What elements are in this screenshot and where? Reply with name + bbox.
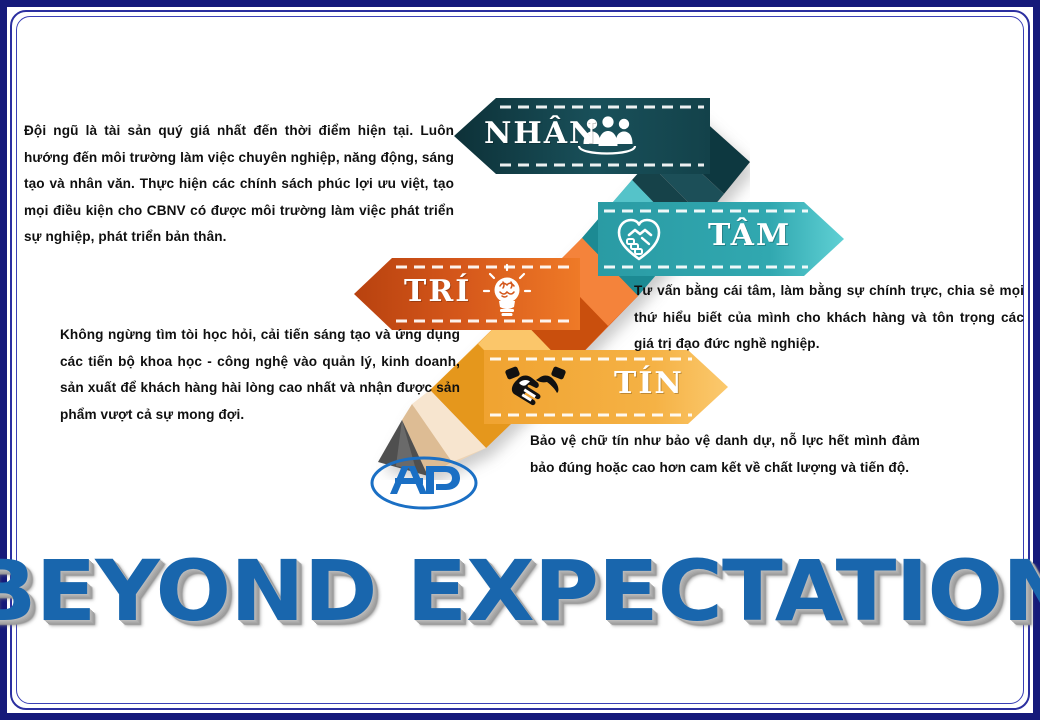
hp-company-logo bbox=[368, 452, 480, 514]
value-label-tin: TÍN bbox=[614, 366, 684, 401]
value-text-tam: Tư vấn bằng cái tâm, làm bằng sự chính t… bbox=[634, 278, 1024, 358]
page-title: BEYOND EXPECTATION bbox=[0, 536, 1040, 646]
value-banner-tam[interactable]: TÂM bbox=[596, 200, 846, 278]
value-banner-nhan[interactable]: NHÂN bbox=[452, 96, 712, 176]
value-label-tam: TÂM bbox=[708, 218, 791, 253]
value-text-tri: Không ngừng tìm tòi học hỏi, cải tiến sá… bbox=[60, 322, 460, 428]
value-label-nhan: NHÂN bbox=[484, 116, 598, 151]
value-banner-tri[interactable]: TRÍ bbox=[352, 256, 582, 332]
value-text-nhan: Đội ngũ là tài sản quý giá nhất đến thời… bbox=[24, 118, 454, 251]
value-banner-tin[interactable]: TÍN bbox=[482, 348, 730, 426]
infographic-poster: NHÂN TÂM bbox=[0, 0, 1040, 720]
tin-banner-shape bbox=[482, 348, 730, 426]
value-label-tri: TRÍ bbox=[404, 274, 471, 309]
value-text-tin: Bảo vệ chữ tín như bảo vệ danh dự, nỗ lự… bbox=[530, 428, 920, 481]
headline-banner: BEYOND EXPECTATION bbox=[0, 536, 1040, 646]
